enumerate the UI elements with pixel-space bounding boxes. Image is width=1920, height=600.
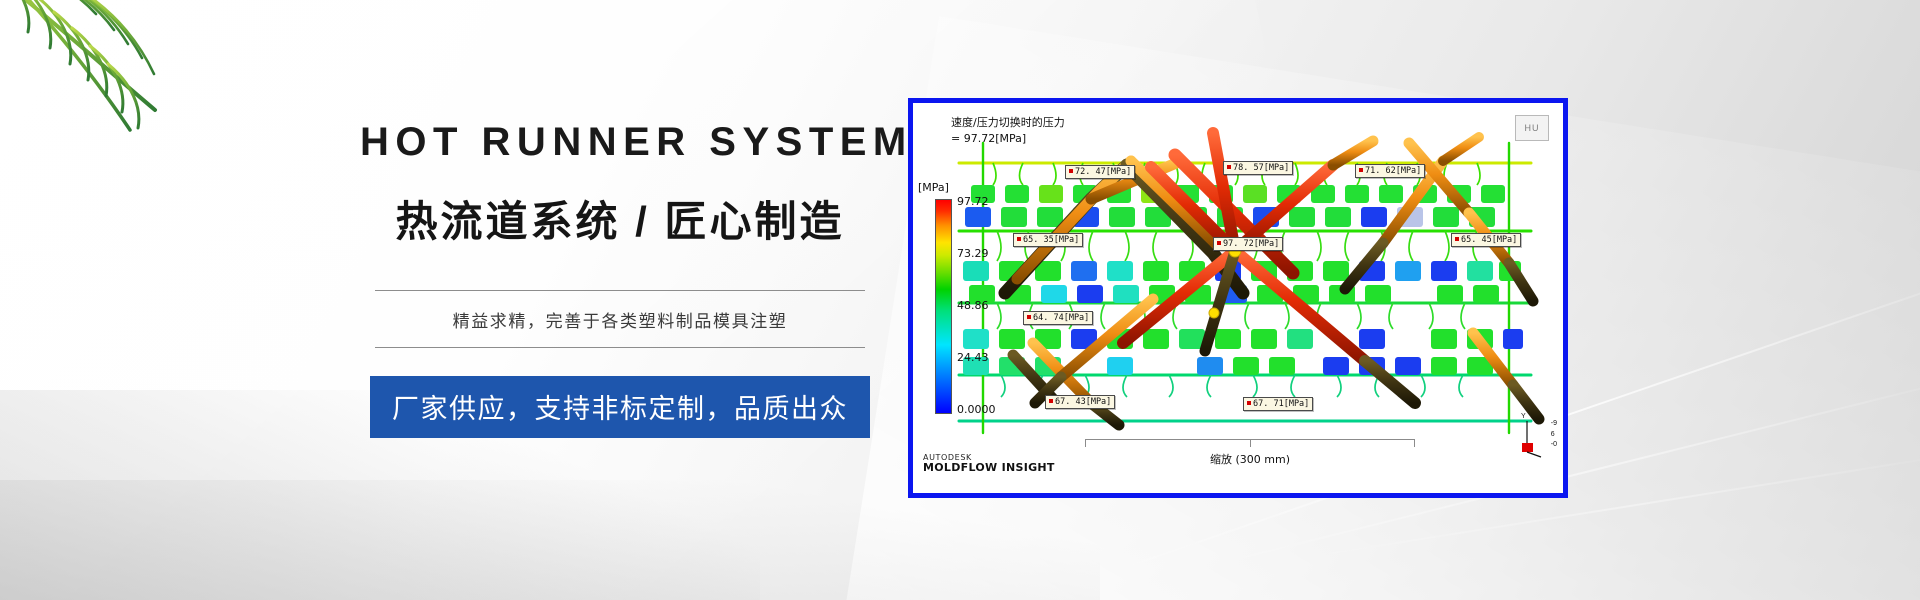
autodesk-brand: AUTODESK MOLDFLOW INSIGHT — [923, 453, 1055, 475]
callout-marker-icon — [1247, 401, 1251, 405]
callout-marker-icon — [1217, 241, 1221, 245]
colorbar-unit-label: [MPa] — [918, 181, 949, 194]
figure-inner: 速度/压力切换时的压力 = 97.72[MPa] [MPa] 97.72 73.… — [913, 103, 1563, 493]
moldflow-analysis-figure[interactable]: 速度/压力切换时的压力 = 97.72[MPa] [MPa] 97.72 73.… — [908, 98, 1568, 498]
axis-value-0: -9 — [1551, 419, 1557, 430]
scale-bar-ruler — [1085, 439, 1415, 448]
pressure-callout-6[interactable]: 64. 74[MPa] — [1023, 311, 1093, 325]
hero-banner: HOT RUNNER SYSTEM 热流道系统 / 匠心制造 精益求精，完善于各… — [0, 0, 1920, 600]
callout-value: 65. 35[MPa] — [1023, 235, 1079, 245]
axis-value-2: -0 — [1551, 440, 1557, 451]
callout-value: 65. 45[MPa] — [1461, 235, 1517, 245]
callout-marker-icon — [1017, 237, 1021, 241]
callout-value: 97. 72[MPa] — [1223, 239, 1279, 249]
pressure-callout-5[interactable]: 65. 45[MPa] — [1451, 233, 1521, 247]
axis-value-1: 6 — [1551, 430, 1557, 441]
axis-orientation-gizmo: Y -9 6 -0 — [1519, 413, 1553, 459]
pressure-callout-4[interactable]: 97. 72[MPa] — [1213, 237, 1283, 251]
figure-corner-logo-icon: HU — [1515, 115, 1549, 141]
colorbar-gradient — [935, 199, 952, 414]
axis-y-label: Y — [1521, 413, 1526, 420]
axis-values: -9 6 -0 — [1551, 419, 1557, 451]
colorbar-tick-2: 48.86 — [957, 299, 989, 312]
callout-value: 64. 74[MPa] — [1033, 313, 1089, 323]
callout-marker-icon — [1455, 237, 1459, 241]
page-title: HOT RUNNER SYSTEM — [360, 120, 880, 164]
figure-title: 速度/压力切换时的压力 = 97.72[MPa] — [951, 115, 1065, 147]
brand-moldflow-label: MOLDFLOW INSIGHT — [923, 462, 1055, 475]
pressure-callout-1[interactable]: 78. 57[MPa] — [1223, 161, 1293, 175]
colorbar-tick-3: 24.43 — [957, 351, 989, 364]
colorbar-tick-1: 73.29 — [957, 247, 989, 260]
cta-banner[interactable]: 厂家供应，支持非标定制，品质出众 — [370, 376, 870, 438]
palm-leaf-decoration — [0, 0, 300, 290]
hero-text-block: HOT RUNNER SYSTEM 热流道系统 / 匠心制造 精益求精，完善于各… — [360, 120, 880, 438]
callout-value: 72. 47[MPa] — [1075, 167, 1131, 177]
callout-marker-icon — [1027, 315, 1031, 319]
scale-bar: 缩放 (300 mm) — [1085, 439, 1415, 467]
callout-value: 67. 71[MPa] — [1253, 399, 1309, 409]
callout-marker-icon — [1227, 165, 1231, 169]
colorbar-tick-4: 0.0000 — [957, 403, 996, 416]
page-subtitle-cn: 热流道系统 / 匠心制造 — [360, 198, 880, 246]
tagline-text: 精益求精，完善于各类塑料制品模具注塑 — [360, 291, 880, 347]
pressure-callout-3[interactable]: 65. 35[MPa] — [1013, 233, 1083, 247]
callout-value: 78. 57[MPa] — [1233, 163, 1289, 173]
scale-bar-caption: 缩放 (300 mm) — [1085, 451, 1415, 467]
background-shadow-wedge-lower — [0, 480, 1100, 600]
callout-value: 71. 62[MPa] — [1365, 166, 1421, 176]
callout-value: 67. 43[MPa] — [1055, 397, 1111, 407]
pressure-callout-8[interactable]: 67. 71[MPa] — [1243, 397, 1313, 411]
divider-bottom — [375, 347, 865, 348]
pressure-callout-0[interactable]: 72. 47[MPa] — [1065, 165, 1135, 179]
colorbar-tick-0: 97.72 — [957, 195, 989, 208]
callout-marker-icon — [1069, 169, 1073, 173]
pressure-callout-2[interactable]: 71. 62[MPa] — [1355, 164, 1425, 178]
callout-marker-icon — [1049, 399, 1053, 403]
callout-marker-icon — [1359, 168, 1363, 172]
pressure-callout-7[interactable]: 67. 43[MPa] — [1045, 395, 1115, 409]
